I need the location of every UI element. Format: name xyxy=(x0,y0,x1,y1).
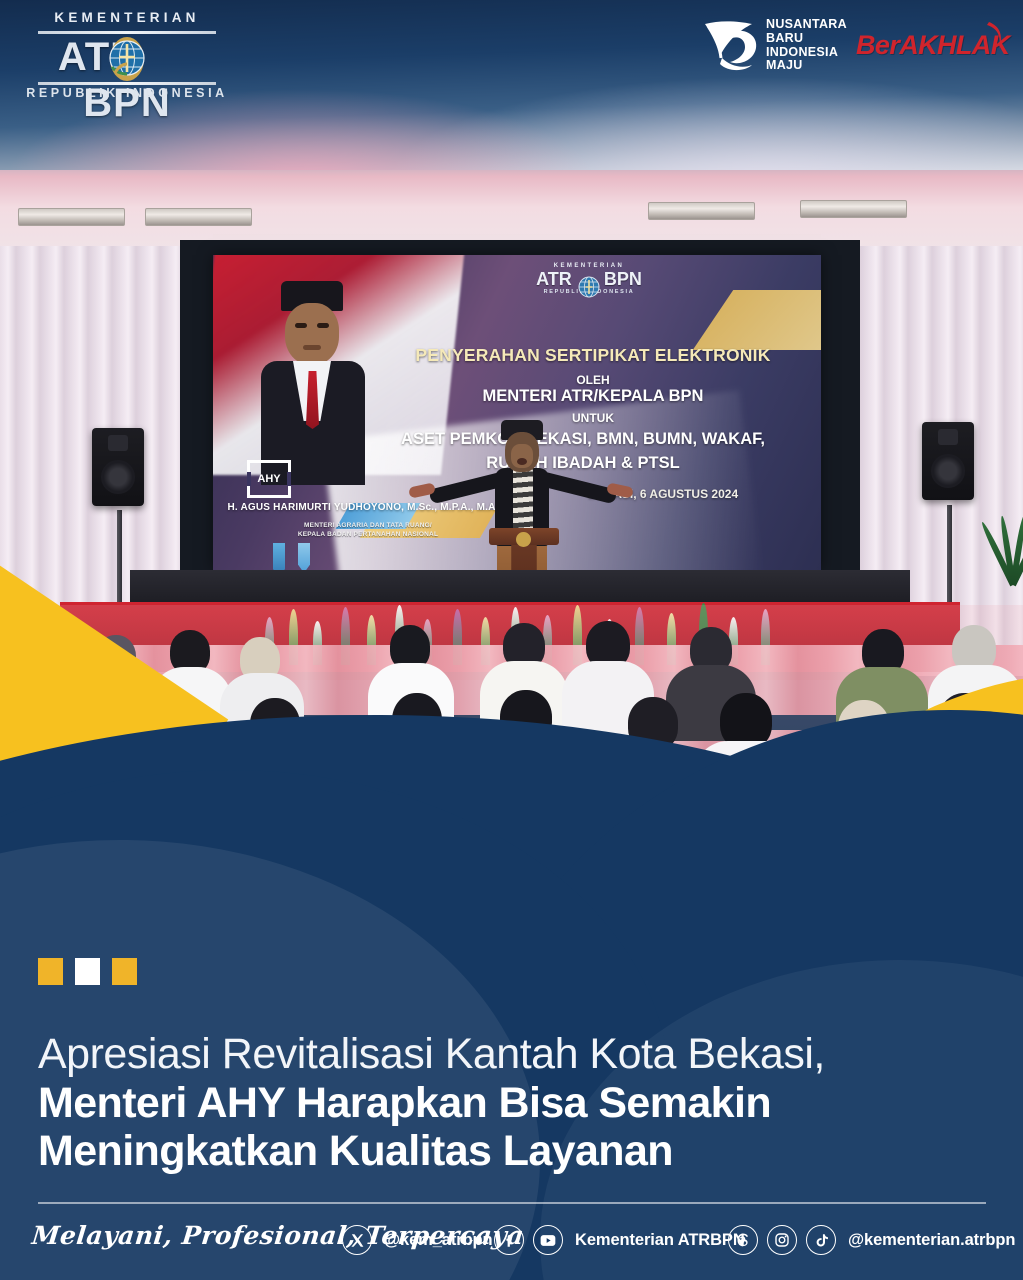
threads-icon[interactable] xyxy=(728,1225,758,1255)
audio-speaker xyxy=(922,422,974,500)
ceiling-light-icon xyxy=(18,208,125,226)
tiktok-icon[interactable] xyxy=(806,1225,836,1255)
youtube-icon[interactable] xyxy=(533,1225,563,1255)
screen-ministry-logo: KEMENTERIAN ATR BPN REPUBLIK INDONESIA xyxy=(529,263,649,311)
anniversary-line3: INDONESIA xyxy=(766,46,847,60)
mouth xyxy=(517,458,527,465)
screen-recipients-line2: RUMAH IBADAH & PTSL xyxy=(348,451,818,475)
social-group-threads-ig-tiktok[interactable]: @kementerian.atrbpn xyxy=(728,1225,1015,1255)
screen-person-role: MENTERI AGRARIA DAN TATA RUANG/ KEPALA B… xyxy=(243,521,493,539)
podium-emblem-icon xyxy=(516,532,531,547)
accent-square-2 xyxy=(75,958,100,985)
screen-logo-atr: ATR xyxy=(536,269,572,289)
screen-person-name: H. AGUS HARIMURTI YUDHOYONO, M.Sc., M.P.… xyxy=(223,502,503,513)
ceiling-light-icon xyxy=(800,200,907,218)
screen-person-role-line2: KEPALA BADAN PERTANAHAN NASIONAL xyxy=(243,530,493,539)
anniversary-line2: BARU xyxy=(766,32,847,46)
accent-square-3 xyxy=(112,958,137,985)
screen-arrow-icon-2 xyxy=(298,543,310,570)
instagram-icon[interactable] xyxy=(767,1225,797,1255)
potted-plant xyxy=(988,490,1023,585)
logo-kementerian-text: KEMENTERIAN xyxy=(22,10,232,25)
screen-wave-gold xyxy=(693,290,821,350)
accent-squares xyxy=(38,958,137,985)
globe-emblem-icon xyxy=(101,33,153,85)
screen-by: MENTERI ATR/KEPALA BPN xyxy=(373,387,813,406)
screen-ahy-badge: AHY xyxy=(247,460,291,498)
facebook-icon[interactable] xyxy=(494,1225,524,1255)
x-twitter-icon[interactable] xyxy=(342,1225,372,1255)
ministry-logo: KEMENTERIAN ATR BPN REPUBLIK INDONESIA xyxy=(22,8,232,106)
berakhlak-logo: BerAKHLAK xyxy=(856,28,1004,68)
headline-line-3: Meningkatkan Kualitas Layanan xyxy=(38,1127,918,1175)
screen-label-oleh: OLEH xyxy=(373,373,813,387)
poster-header: KEMENTERIAN ATR BPN REPUBLIK INDONESIA xyxy=(0,0,1023,170)
audio-speaker xyxy=(92,428,144,506)
threads-ig-tiktok-handle[interactable]: @kementerian.atrbpn xyxy=(848,1231,1015,1250)
speaker-stand xyxy=(947,505,952,610)
screen-recipients-line1: ASET PEMKOT BEKASI, BMN, BUMN, WAKAF, xyxy=(348,427,818,451)
headline-line-2: Menteri AHY Harapkan Bisa Semakin xyxy=(38,1079,918,1127)
anniversary-line4: MAJU xyxy=(766,59,847,73)
screen-recipients: ASET PEMKOT BEKASI, BMN, BUMN, WAKAF, RU… xyxy=(348,427,818,475)
screen-logo-bpn: BPN xyxy=(604,269,642,289)
social-group-fb-yt[interactable]: Kementerian ATRBPN xyxy=(494,1225,745,1255)
page-title: Apresiasi Revitalisasi Kantah Kota Bekas… xyxy=(38,1030,918,1175)
ceiling-light-icon xyxy=(145,208,252,226)
poster-root: KEMENTERIAN ATR BPN REPUBLIK INDONESIA xyxy=(0,0,1023,1280)
social-group-x[interactable]: @kem_atrbpn xyxy=(342,1225,493,1255)
swoosh-icon xyxy=(985,20,1007,54)
anniversary-line1: NUSANTARA xyxy=(766,18,847,32)
accent-square-1 xyxy=(38,958,63,985)
footer-divider xyxy=(38,1202,986,1204)
poster-footer: Melayani, Profesional, Terpercaya @kem_a… xyxy=(0,1215,1023,1280)
fb-yt-handle[interactable]: Kementerian ATRBPN xyxy=(575,1231,745,1250)
speaker-stand xyxy=(117,510,122,615)
logo-republik-text: REPUBLIK INDONESIA xyxy=(22,86,232,100)
portrait-eye-left xyxy=(295,323,307,328)
screen-label-untuk: UNTUK xyxy=(373,411,813,425)
logo-divider-bottom xyxy=(38,82,216,85)
screen-arrow-icon xyxy=(273,543,285,570)
anniversary-tagline: NUSANTARA BARU INDONESIA MAJU xyxy=(766,18,847,73)
globe-emblem-icon xyxy=(577,275,601,299)
screen-title: PENYERAHAN SERTIPIKAT ELEKTRONIK xyxy=(373,345,813,366)
anniversary-79-icon xyxy=(700,14,762,76)
ceiling-light-icon xyxy=(648,202,755,220)
portrait-mouth xyxy=(303,345,321,350)
headline-line-1: Apresiasi Revitalisasi Kantah Kota Bekas… xyxy=(38,1030,918,1079)
screen-person-role-line1: MENTERI AGRARIA DAN TATA RUANG/ xyxy=(243,521,493,530)
x-handle[interactable]: @kem_atrbpn xyxy=(384,1231,493,1250)
portrait-eye-right xyxy=(317,323,329,328)
portrait-head xyxy=(285,303,339,365)
